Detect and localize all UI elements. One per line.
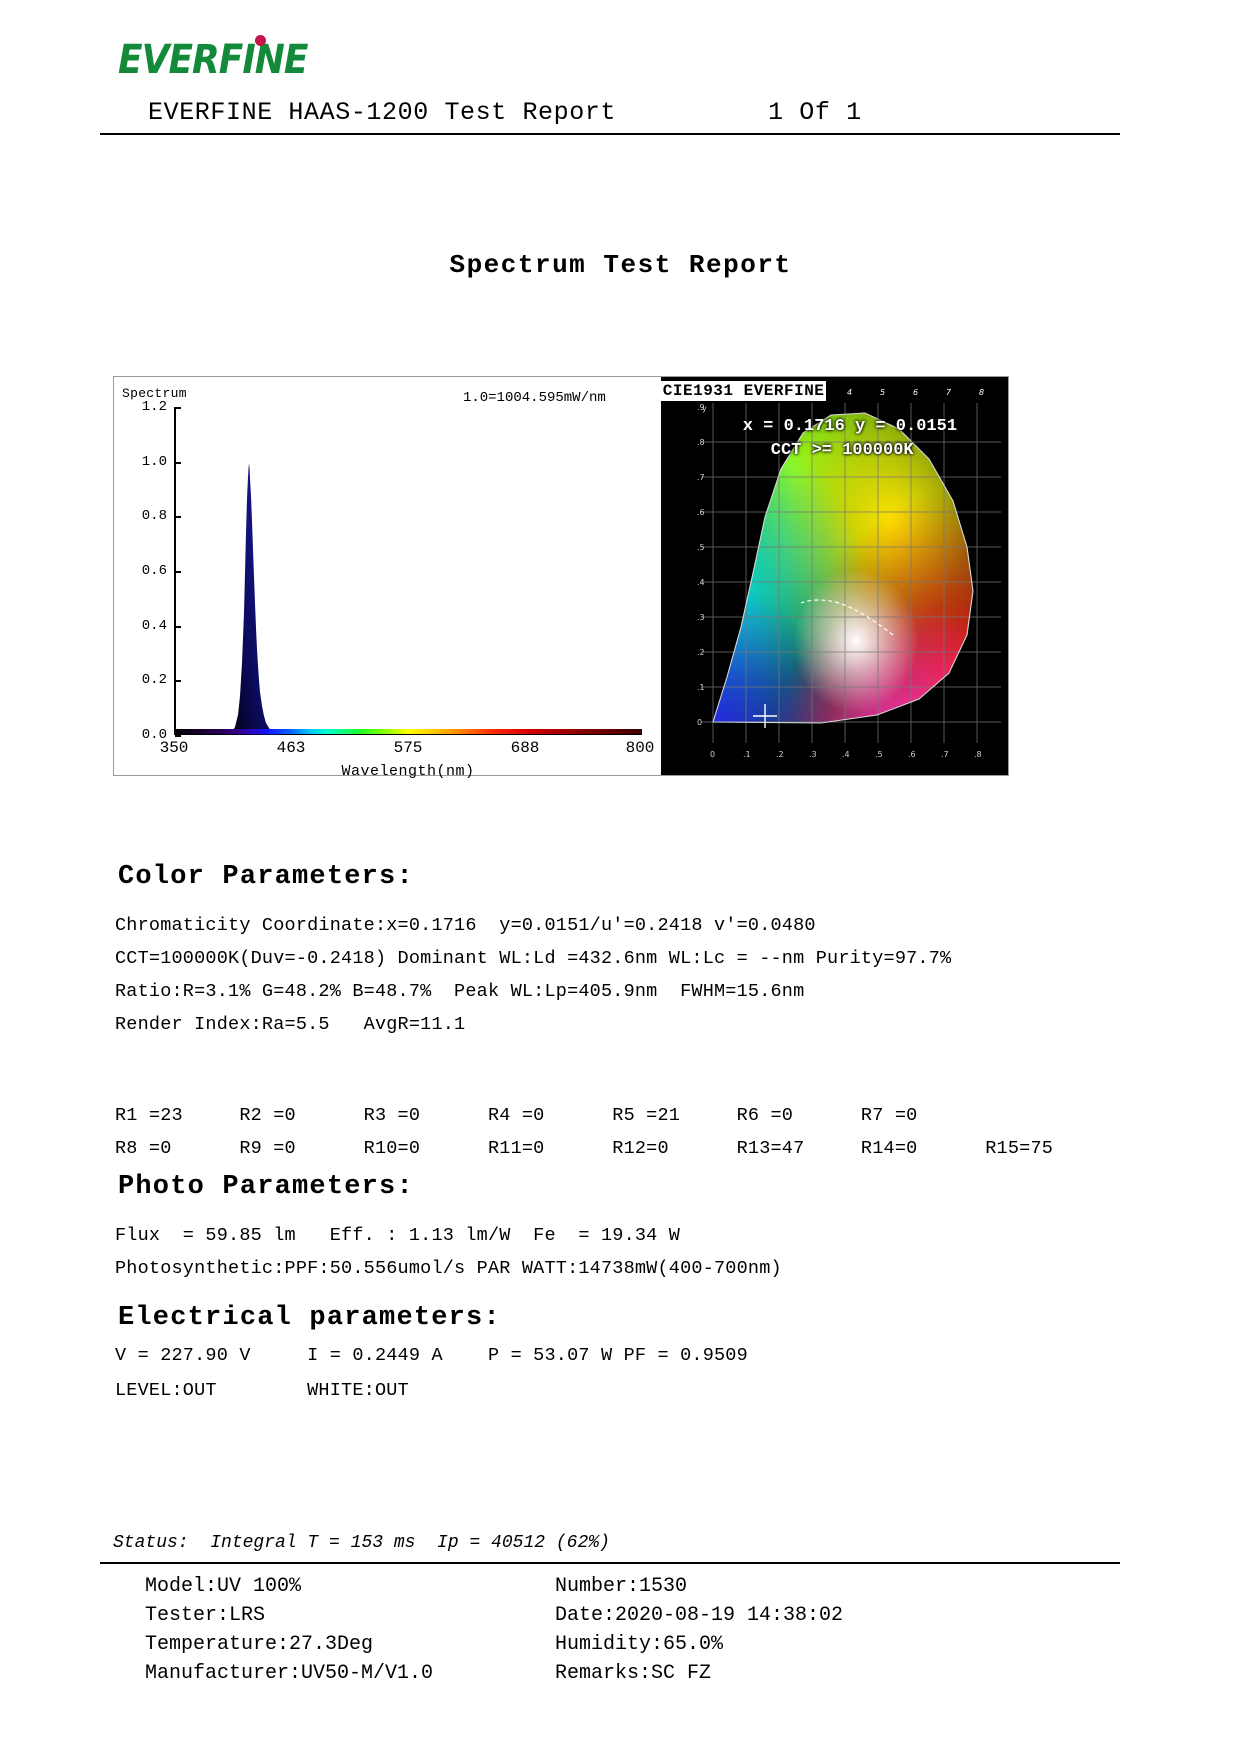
photosynthetic-line: Photosynthetic:PPF:50.556umol/s PAR WATT… [115, 1258, 782, 1279]
svg-text:.3: .3 [809, 750, 817, 759]
status-line: Status: Integral T = 153 ms Ip = 40512 (… [113, 1533, 610, 1553]
header-page-indicator: 1 Of 1 [768, 98, 862, 127]
x-tick-label: 575 [394, 739, 423, 757]
spectrum-chart: Spectrum 1.0=1004.595mW/nm 1.2 1.0 0.8 0… [114, 377, 661, 775]
y-tick-label: 0.2 [142, 672, 174, 688]
footer-info: Model:UV 100% Number:1530 Tester:LRS Dat… [145, 1572, 1025, 1688]
spectrum-scale-note: 1.0=1004.595mW/nm [463, 390, 606, 406]
footer-row: Model:UV 100% Number:1530 [145, 1572, 1025, 1601]
x-tick-label: 688 [511, 739, 540, 757]
report-page: EVERFINE EVERFINE HAAS-1200 Test Report … [0, 0, 1241, 1755]
svg-text:.5: .5 [875, 750, 883, 759]
footer-date: Date:2020-08-19 14:38:02 [555, 1601, 843, 1630]
svg-text:6: 6 [913, 388, 918, 397]
footer-model: Model:UV 100% [145, 1572, 555, 1601]
spectrum-peak-curve [226, 463, 280, 735]
spectrum-x-axis-label: Wavelength(nm) [174, 763, 642, 780]
y-tick-label: 1.0 [142, 454, 174, 470]
svg-text:0: 0 [697, 718, 702, 727]
page-title: Spectrum Test Report [0, 250, 1241, 280]
y-tick-label: 1.2 [142, 399, 174, 415]
electrical-parameters-heading: Electrical parameters: [118, 1303, 501, 1333]
svg-text:.2: .2 [776, 750, 784, 759]
svg-text:.7: .7 [941, 750, 949, 759]
svg-text:.5: .5 [697, 543, 705, 552]
spectrum-color-strip [174, 729, 642, 734]
svg-text:.7: .7 [697, 473, 705, 482]
chromaticity-coordinate-line: Chromaticity Coordinate:x=0.1716 y=0.015… [115, 915, 816, 936]
render-index-row-1: R1 =23 R2 =0 R3 =0 R4 =0 R5 =21 R6 =0 R7… [115, 1105, 917, 1126]
svg-text:.6: .6 [697, 508, 705, 517]
svg-text:.1: .1 [697, 683, 705, 692]
photo-parameters-heading: Photo Parameters: [118, 1172, 414, 1202]
y-tick-label: 0.8 [142, 508, 174, 524]
cie-chromaticity-chart: CIE1931 EVERFINE x = 0.1716 y = 0.0151 C… [661, 377, 1008, 775]
level-white-line: LEVEL:OUT WHITE:OUT [115, 1380, 409, 1401]
svg-text:.8: .8 [974, 750, 982, 759]
color-parameters-heading: Color Parameters: [118, 862, 414, 892]
cie-diagram-graphic: 0 .1 .2 .3 .4 .5 .6 .7 .8 0 .1 .2 .3 .4 … [661, 377, 1008, 775]
logo-accent-dot-icon [255, 35, 266, 46]
svg-text:8: 8 [979, 388, 984, 397]
cie-cct-annotation: CCT >= 100000K [771, 441, 914, 460]
render-index-line: Render Index:Ra=5.5 AvgR=11.1 [115, 1014, 465, 1035]
everfine-logo: EVERFINE [118, 36, 378, 84]
footer-temperature: Temperature:27.3Deg [145, 1630, 555, 1659]
render-index-row-2: R8 =0 R9 =0 R10=0 R11=0 R12=0 R13=47 R14… [115, 1138, 1053, 1159]
cct-dominant-wl-line: CCT=100000K(Duv=-0.2418) Dominant WL:Ld … [115, 948, 951, 969]
svg-text:.1: .1 [743, 750, 751, 759]
y-tick-label: 0.4 [142, 618, 174, 634]
footer-row: Temperature:27.3Deg Humidity:65.0% [145, 1630, 1025, 1659]
charts-container: Spectrum 1.0=1004.595mW/nm 1.2 1.0 0.8 0… [113, 376, 1009, 776]
footer-tester: Tester:LRS [145, 1601, 555, 1630]
footer-remarks: Remarks:SC FZ [555, 1659, 711, 1688]
footer-manufacturer: Manufacturer:UV50-M/V1.0 [145, 1659, 555, 1688]
x-tick-label: 350 [160, 739, 189, 757]
x-tick-label: 463 [277, 739, 306, 757]
cie-chart-title: CIE1931 EVERFINE [661, 381, 827, 401]
y-tick-label: 0.6 [142, 563, 174, 579]
svg-text:y: y [702, 404, 707, 413]
svg-text:5: 5 [880, 388, 885, 397]
svg-text:.4: .4 [697, 578, 705, 587]
status-divider [100, 1562, 1120, 1564]
report-header: EVERFINE HAAS-1200 Test Report 1 Of 1 [100, 98, 1120, 135]
svg-text:.6: .6 [908, 750, 916, 759]
cie-coordinate-annotation: x = 0.1716 y = 0.0151 [743, 417, 957, 436]
svg-text:.3: .3 [697, 613, 705, 622]
spectrum-plot-area: 1.2 1.0 0.8 0.6 0.4 0.2 0.0 [174, 407, 642, 735]
svg-text:4: 4 [847, 388, 852, 397]
footer-number: Number:1530 [555, 1572, 687, 1601]
x-tick-label: 800 [626, 739, 655, 757]
svg-text:0: 0 [710, 750, 715, 759]
logo-wordmark: EVERFINE [118, 36, 378, 85]
voltage-current-line: V = 227.90 V I = 0.2449 A P = 53.07 W PF… [115, 1345, 748, 1366]
footer-row: Tester:LRS Date:2020-08-19 14:38:02 [145, 1601, 1025, 1630]
header-title: EVERFINE HAAS-1200 Test Report [148, 98, 616, 127]
footer-row: Manufacturer:UV50-M/V1.0 Remarks:SC FZ [145, 1659, 1025, 1688]
footer-humidity: Humidity:65.0% [555, 1630, 723, 1659]
ratio-peak-fwhm-line: Ratio:R=3.1% G=48.2% B=48.7% Peak WL:Lp=… [115, 981, 804, 1002]
flux-line: Flux = 59.85 lm Eff. : 1.13 lm/W Fe = 19… [115, 1225, 680, 1246]
svg-text:.2: .2 [697, 648, 705, 657]
svg-text:.4: .4 [842, 750, 850, 759]
svg-text:.8: .8 [697, 438, 705, 447]
